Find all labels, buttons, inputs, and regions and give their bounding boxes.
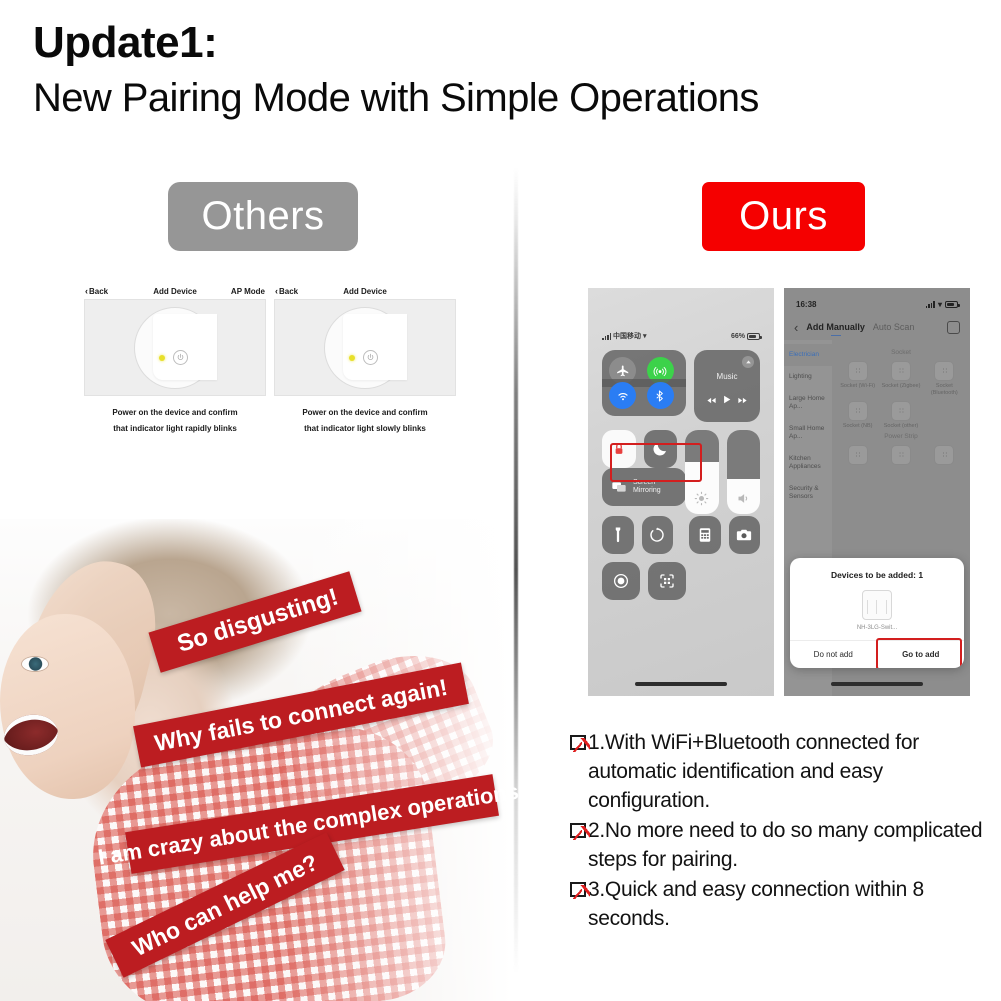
tab-auto-scan[interactable]: Auto Scan [873, 322, 915, 332]
socket-grid: ∷ Socket (Wi-Fi) ∷ Socket (Zigbee) ∷ Soc… [837, 361, 965, 430]
calculator-icon[interactable] [689, 516, 721, 554]
device-body [153, 314, 217, 380]
cc-row-5 [602, 562, 760, 600]
volume-fill [727, 430, 761, 479]
add-device-phone: 16:38 ▾ ‹ Add Manually Auto Scan Electri… [784, 288, 970, 696]
ap-mode-button[interactable]: AP Mode [231, 287, 265, 296]
others-badge: Others [168, 182, 358, 251]
indicator-light-icon [159, 355, 165, 361]
back-button[interactable]: ‹ [794, 320, 798, 335]
device-socket-zigbee[interactable]: ∷ Socket (Zigbee) [880, 361, 921, 397]
others-screen-1: ‹ Back Add Device AP Mode Power on the d… [84, 283, 266, 437]
music-widget[interactable]: Music [694, 350, 760, 422]
socket-icon: ∷ [891, 361, 911, 381]
wifi-status-icon: ▾ [643, 332, 647, 340]
home-indicator [831, 682, 923, 686]
socket-icon: ∷ [848, 361, 868, 381]
status-bar: 中国移动 ▾ 66% [602, 330, 760, 342]
control-center-grid: Music [602, 350, 760, 608]
screen1-device-image [84, 299, 266, 396]
modal-actions: Do not add Go to add [790, 640, 964, 668]
bluetooth-icon[interactable] [647, 382, 674, 409]
device-power-strip-2[interactable]: ∷ [880, 445, 921, 467]
next-track-icon[interactable] [737, 392, 748, 410]
go-to-add-highlight [876, 638, 962, 668]
do-not-add-button[interactable]: Do not add [790, 641, 878, 668]
indicator-light-icon [349, 355, 355, 361]
timer-icon[interactable] [642, 516, 674, 554]
sidebar-item-large-home-appliances[interactable]: Large Home Ap... [784, 388, 832, 418]
wifi-icon: ▾ [938, 300, 942, 309]
home-indicator [635, 682, 727, 686]
photo-vignette [0, 519, 512, 1001]
power-button-icon [363, 350, 378, 365]
screen-record-icon[interactable] [602, 562, 640, 600]
sidebar-item-small-home-appliances[interactable]: Small Home Ap... [784, 418, 832, 448]
battery-icon [747, 333, 760, 340]
screen2-device-image [274, 299, 456, 396]
music-controls [694, 392, 760, 410]
brightness-icon [685, 491, 719, 506]
feature-item-3: 3.Quick and easy connection within 8 sec… [570, 875, 1000, 933]
promo-page: Update1: New Pairing Mode with Simple Op… [0, 0, 1001, 1001]
music-label: Music [694, 372, 760, 381]
feature-item-2: 2.No more need to do so many complicated… [570, 816, 1000, 874]
checkmark-icon [570, 882, 586, 897]
feature-text-3: 3.Quick and easy connection within 8 sec… [588, 875, 1000, 933]
feature-list: 1.With WiFi+Bluetooth connected for auto… [570, 728, 1000, 934]
device-power-strip-3[interactable]: ∷ [924, 445, 965, 467]
status-time: 16:38 [796, 300, 816, 309]
others-screen-2: ‹ Back Add Device Power on the device an… [274, 283, 456, 437]
modal-title: Devices to be added: 1 [790, 558, 964, 590]
frustrated-user-photo [0, 519, 512, 1001]
modal-device-name: NH-3LG-Swit... [790, 625, 964, 631]
power-strip-icon: ∷ [934, 445, 954, 465]
scan-qr-icon[interactable] [947, 321, 960, 334]
socket-icon: ∷ [891, 401, 911, 421]
wifi-bluetooth-highlight [610, 443, 702, 482]
device-socket-other[interactable]: ∷ Socket (other) [880, 401, 921, 430]
previous-track-icon[interactable] [706, 392, 717, 410]
feature-item-1: 1.With WiFi+Bluetooth connected for auto… [570, 728, 1000, 815]
headline-line-1: Update1: [33, 16, 993, 70]
devices-to-add-modal: Devices to be added: 1 NH-3LG-Swit... Do… [790, 558, 964, 668]
play-icon[interactable] [722, 392, 732, 410]
section-socket: Socket [837, 349, 965, 356]
sidebar-item-kitchen-appliances[interactable]: Kitchen Appliances [784, 448, 832, 478]
connectivity-bottom [602, 379, 686, 416]
headline-line-2: New Pairing Mode with Simple Operations [33, 72, 993, 124]
battery-percent: 66% [731, 333, 745, 340]
screen2-title: Add Device [274, 287, 456, 296]
screen2-caption: Power on the device and confirm that ind… [274, 405, 456, 437]
qr-scan-icon[interactable] [648, 562, 686, 600]
screen2-navbar: ‹ Back Add Device [274, 283, 456, 299]
checkmark-icon [570, 823, 586, 838]
feature-text-1: 1.With WiFi+Bluetooth connected for auto… [588, 728, 1000, 815]
sidebar-item-security-sensors[interactable]: Security & Sensors [784, 478, 832, 508]
screen1-caption: Power on the device and confirm that ind… [84, 405, 266, 437]
ours-badge: Ours [702, 182, 865, 251]
status-right: 66% [731, 333, 760, 340]
control-center-phone: 中国移动 ▾ 66% [588, 288, 774, 696]
camera-icon[interactable] [729, 516, 761, 554]
screen1-navbar: ‹ Back Add Device AP Mode [84, 283, 266, 299]
volume-icon [727, 491, 761, 506]
add-device-navbar: ‹ Add Manually Auto Scan [784, 316, 970, 338]
device-socket-wifi[interactable]: ∷ Socket (Wi-Fi) [837, 361, 878, 397]
airplay-icon[interactable] [742, 356, 754, 368]
device-body [343, 314, 407, 380]
sidebar-item-lighting[interactable]: Lighting [784, 366, 832, 388]
add-status-bar: 16:38 ▾ [796, 298, 958, 310]
device-power-strip-1[interactable]: ∷ [837, 445, 878, 467]
device-circle [324, 307, 406, 389]
volume-slider[interactable] [727, 430, 761, 514]
power-button-icon [173, 350, 188, 365]
wifi-icon[interactable] [609, 382, 636, 409]
signal-bars-icon [926, 301, 935, 308]
tab-add-manually[interactable]: Add Manually [806, 322, 865, 332]
page-title: Update1: New Pairing Mode with Simple Op… [33, 16, 993, 124]
power-strip-icon: ∷ [848, 445, 868, 465]
connectivity-block [602, 350, 686, 422]
power-strip-icon: ∷ [891, 445, 911, 465]
switch-device-icon [862, 590, 892, 620]
cc-row-4 [602, 516, 760, 554]
carrier-label: 中国移动 [613, 331, 641, 341]
socket-icon: ∷ [848, 401, 868, 421]
cc-row-1: Music [602, 350, 760, 422]
modal-device: NH-3LG-Swit... [790, 590, 964, 640]
device-socket-bluetooth[interactable]: ∷ Socket (Bluetooth) [924, 361, 965, 397]
flashlight-icon[interactable] [602, 516, 634, 554]
status-right: ▾ [926, 300, 958, 309]
device-socket-nb[interactable]: ∷ Socket (NB) [837, 401, 878, 430]
signal-bars-icon [602, 333, 611, 340]
sidebar-item-electrician[interactable]: Electrician [784, 344, 832, 366]
device-circle [134, 307, 216, 389]
power-strip-grid: ∷ ∷ ∷ [837, 445, 965, 467]
checkmark-icon [570, 735, 586, 750]
section-power-strip: Power Strip [837, 433, 965, 440]
socket-icon: ∷ [934, 361, 954, 381]
vertical-divider [514, 168, 518, 973]
battery-icon [945, 301, 958, 308]
feature-text-2: 2.No more need to do so many complicated… [588, 816, 1000, 874]
status-left: 中国移动 ▾ [602, 331, 647, 341]
